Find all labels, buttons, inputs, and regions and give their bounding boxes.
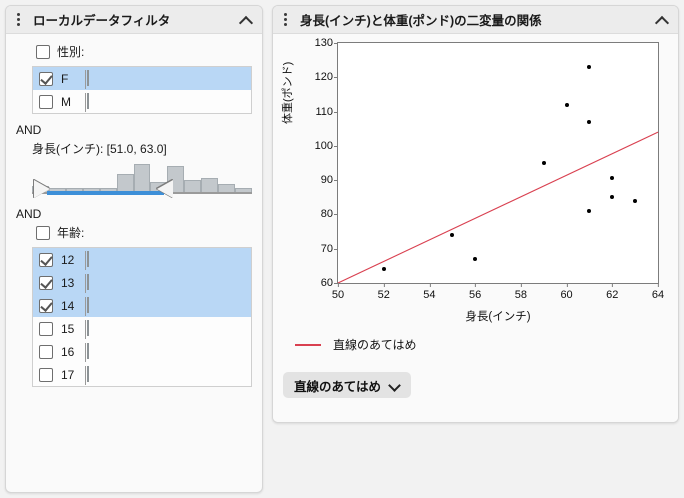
list-item-label: 12 [61, 253, 77, 267]
filter-connector-and-1: AND [16, 123, 252, 137]
x-axis-tick: 60 [560, 283, 572, 301]
x-axis-label: 身長(インチ) [337, 308, 659, 324]
local-data-filter-panel: ローカルデータフィルタ 性別: F M [5, 5, 263, 493]
checkbox-sex-group[interactable] [36, 45, 50, 59]
y-axis-tick: 110 [315, 106, 338, 118]
list-item-bar-track [85, 321, 245, 336]
legend-swatch-line [295, 344, 321, 346]
list-item[interactable]: 13 [33, 271, 251, 294]
x-axis-tick: 52 [378, 283, 390, 301]
list-item-bar [87, 343, 89, 359]
checkbox-sex-m[interactable] [39, 95, 53, 109]
checkbox-age-12[interactable] [39, 253, 53, 267]
fit-line [338, 43, 658, 283]
histogram-bin [134, 164, 151, 192]
filter-group-label-age: 年齢: [57, 224, 84, 241]
list-item-bar-track [85, 94, 245, 109]
list-item[interactable]: 15 [33, 317, 251, 340]
list-item[interactable]: 16 [33, 340, 251, 363]
list-item-bar-track [85, 344, 245, 359]
y-axis-tick: 120 [315, 71, 338, 83]
chart-panel-title: 身長(インチ)と体重(ポンド)の二変量の関係 [300, 10, 654, 29]
x-axis-tick: 58 [515, 283, 527, 301]
vertical-dots-icon[interactable] [13, 11, 23, 29]
x-axis-tick: 54 [423, 283, 435, 301]
list-item-bar-track [85, 252, 245, 267]
x-axis-tick: 56 [469, 283, 481, 301]
histogram-bin [201, 178, 218, 192]
filter-group-header-age[interactable]: 年齢: [36, 224, 252, 241]
y-axis-label: 体重(ポンド) [279, 62, 295, 124]
list-item-bar [87, 251, 89, 267]
list-item-bar [87, 93, 89, 109]
scatter-plot-area[interactable]: 607080901001101201305052545658606264 [337, 42, 659, 284]
list-item-bar [87, 70, 89, 86]
vertical-dots-icon[interactable] [280, 11, 290, 29]
list-item[interactable]: 14 [33, 294, 251, 317]
fit-line-dropdown-label: 直線のあてはめ [294, 376, 381, 395]
x-axis-tick: 62 [606, 283, 618, 301]
list-item-label: 15 [61, 322, 77, 336]
list-item[interactable]: 12 [33, 248, 251, 271]
slider-selected-range [47, 191, 164, 195]
chart-legend: 直線のあてはめ [295, 336, 417, 353]
list-item-label: F [61, 72, 77, 86]
y-axis-tick: 70 [321, 243, 338, 255]
chart-panel-header: 身長(インチ)と体重(ポンド)の二変量の関係 [273, 6, 678, 34]
list-item-bar-track [85, 275, 245, 290]
filter-list-sex: F M [32, 66, 252, 114]
list-item-label: 17 [61, 368, 77, 382]
bivariate-chart-panel: 身長(インチ)と体重(ポンド)の二変量の関係 体重(ポンド) 607080901… [272, 5, 679, 423]
list-item[interactable]: M [33, 90, 251, 113]
checkbox-age-14[interactable] [39, 299, 53, 313]
list-item-label: 14 [61, 299, 77, 313]
app-root: ローカルデータフィルタ 性別: F M [0, 0, 684, 498]
x-axis-tick: 50 [332, 283, 344, 301]
filter-panel-header: ローカルデータフィルタ [6, 6, 262, 34]
histogram-bin [117, 174, 134, 192]
y-axis-tick: 80 [321, 208, 338, 220]
filter-connector-and-2: AND [16, 207, 252, 221]
chart-body: 体重(ポンド) 60708090100110120130505254565860… [273, 34, 678, 423]
x-axis-tick: 64 [652, 283, 664, 301]
list-item[interactable]: 17 [33, 363, 251, 386]
height-histogram [32, 160, 252, 192]
list-item-label: 16 [61, 345, 77, 359]
filter-range-label-height: 身長(インチ): [51.0, 63.0] [32, 140, 252, 157]
data-point[interactable] [633, 199, 637, 203]
chevron-down-icon[interactable] [389, 380, 400, 391]
list-item-bar [87, 297, 89, 313]
data-point[interactable] [382, 267, 386, 271]
filter-panel-body: 性別: F M AND [6, 34, 262, 393]
chevron-up-icon[interactable] [654, 12, 670, 28]
checkbox-age-group[interactable] [36, 226, 50, 240]
checkbox-age-15[interactable] [39, 322, 53, 336]
list-item-bar [87, 274, 89, 290]
filter-panel-title: ローカルデータフィルタ [33, 10, 238, 29]
histogram-bin [218, 184, 235, 192]
data-point[interactable] [542, 161, 546, 165]
filter-group-header-sex[interactable]: 性別: [36, 43, 252, 60]
slider-thumb-right[interactable] [157, 180, 173, 198]
y-axis-tick: 90 [321, 174, 338, 186]
list-item-label: M [61, 95, 77, 109]
list-item-label: 13 [61, 276, 77, 290]
chevron-up-icon[interactable] [238, 12, 254, 28]
slider-thumb-left[interactable] [34, 180, 50, 198]
list-item-bar-track [85, 298, 245, 313]
checkbox-age-13[interactable] [39, 276, 53, 290]
y-axis-tick: 130 [315, 37, 338, 49]
list-item-bar [87, 320, 89, 336]
legend-label: 直線のあてはめ [333, 336, 417, 353]
list-item-bar-track [85, 367, 245, 382]
height-range-slider[interactable] [32, 162, 252, 198]
filter-list-age: 12 13 14 [32, 247, 252, 387]
histogram-bin [184, 180, 201, 192]
checkbox-age-17[interactable] [39, 368, 53, 382]
list-item[interactable]: F [33, 67, 251, 90]
fit-line-dropdown-button[interactable]: 直線のあてはめ [283, 372, 411, 398]
y-axis-tick: 100 [315, 140, 338, 152]
filter-group-label-sex: 性別: [57, 43, 84, 60]
data-point[interactable] [565, 103, 569, 107]
list-item-bar-track [85, 71, 245, 86]
checkbox-age-16[interactable] [39, 345, 53, 359]
list-item-bar [87, 366, 89, 382]
checkbox-sex-f[interactable] [39, 72, 53, 86]
